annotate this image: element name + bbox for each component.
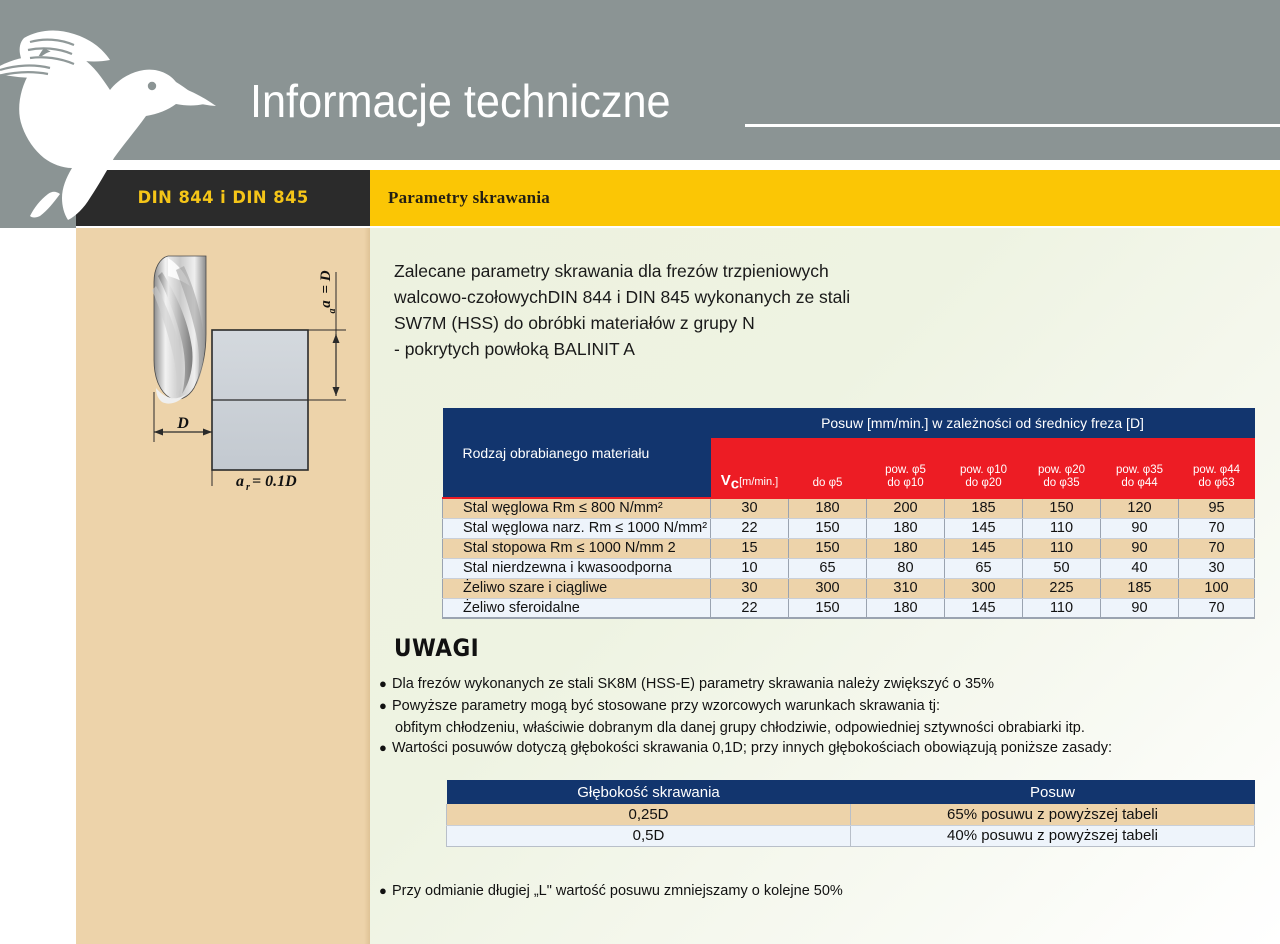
cell-feed: 40% posuwu z powyższej tabeli	[851, 825, 1255, 846]
cell-d20-d35: 110	[1023, 598, 1101, 618]
table-row: Stal węglowa narz. Rm ≤ 1000 N/mm² 22 15…	[443, 518, 1255, 538]
cell-d10-d20: 145	[945, 598, 1023, 618]
col-header-d20-d35-l1: pow. φ20	[1023, 464, 1101, 477]
cell-depth: 0,25D	[447, 804, 851, 825]
col-header-d44-d63-l1: pow. φ44	[1179, 464, 1255, 477]
cell-d10-d20: 185	[945, 498, 1023, 518]
cell-d5: 150	[789, 538, 867, 558]
cell-material: Stal węglowa Rm ≤ 800 N/mm²	[443, 498, 711, 518]
col-header-d5-l2: do φ5	[789, 477, 867, 490]
note-continuation: obfitym chłodzeniu, właściwie dobranym d…	[376, 718, 1266, 738]
cell-d5: 150	[789, 518, 867, 538]
cell-d44-d63: 95	[1179, 498, 1255, 518]
cutting-parameters-table: Rodzaj obrabianego materiału Posuw [mm/m…	[442, 408, 1255, 619]
section-banner-label: Parametry skrawania	[388, 188, 550, 208]
cell-d35-d44: 90	[1101, 518, 1179, 538]
cell-vc: 22	[711, 518, 789, 538]
standard-banner-label: DIN 844 i DIN 845	[137, 188, 308, 208]
feed-span-header: Posuw [mm/min.] w zależności od średnicy…	[711, 408, 1255, 438]
table-row: 0,5D 40% posuwu z powyższej tabeli	[447, 825, 1255, 846]
cell-d5-d10: 180	[867, 518, 945, 538]
col-header-d10-d20-l2: do φ20	[945, 477, 1023, 490]
material-column-header: Rodzaj obrabianego materiału	[443, 408, 711, 498]
cell-material: Żeliwo sferoidalne	[443, 598, 711, 618]
col-header-d5-d10-l1: pow. φ5	[867, 464, 945, 477]
col-header-d5: do φ5	[789, 438, 867, 498]
cell-d10-d20: 300	[945, 578, 1023, 598]
cell-material: Stal nierdzewna i kwasoodporna	[443, 558, 711, 578]
table-row: Stal węglowa Rm ≤ 800 N/mm² 30 180 200 1…	[443, 498, 1255, 518]
vc-symbol: V	[721, 472, 731, 489]
col-header-d35-d44-l2: do φ44	[1101, 477, 1179, 490]
cell-d20-d35: 50	[1023, 558, 1101, 578]
intro-line-4: - pokrytych powłoką BALINIT A	[394, 336, 994, 362]
table-header-row-top: Rodzaj obrabianego materiału Posuw [mm/m…	[443, 408, 1255, 438]
cell-d5-d10: 180	[867, 598, 945, 618]
standard-banner: DIN 844 i DIN 845	[76, 170, 370, 226]
cell-d35-d44: 120	[1101, 498, 1179, 518]
cell-d44-d63: 70	[1179, 538, 1255, 558]
cell-d44-d63: 100	[1179, 578, 1255, 598]
page-title: Informacje techniczne	[250, 74, 671, 128]
svg-text:= D: = D	[318, 270, 334, 293]
list-item: ● Dla frezów wykonanych ze stali SK8M (H…	[376, 674, 1266, 694]
cell-d44-d63: 70	[1179, 598, 1255, 618]
bullet-icon: ●	[376, 696, 392, 716]
cell-vc: 15	[711, 538, 789, 558]
notes-list: ● Dla frezów wykonanych ze stali SK8M (H…	[376, 674, 1266, 760]
cell-d20-d35: 150	[1023, 498, 1101, 518]
col-header-d35-d44: pow. φ35 do φ44	[1101, 438, 1179, 498]
end-mill-technical-drawing: a a = D D a r = 0.1D	[132, 242, 372, 492]
cell-d5: 150	[789, 598, 867, 618]
table-row: Żeliwo szare i ciągliwe 30 300 310 300 2…	[443, 578, 1255, 598]
cell-material: Stal węglowa narz. Rm ≤ 1000 N/mm²	[443, 518, 711, 538]
bullet-icon: ●	[376, 881, 392, 901]
intro-line-3: SW7M (HSS) do obróbki materiałów z grupy…	[394, 310, 994, 336]
cell-d5-d10: 80	[867, 558, 945, 578]
cell-d20-d35: 110	[1023, 518, 1101, 538]
svg-text:r: r	[246, 482, 250, 492]
bullet-icon: ●	[376, 674, 392, 694]
cell-feed: 65% posuwu z powyższej tabeli	[851, 804, 1255, 825]
table-row: 0,25D 65% posuwu z powyższej tabeli	[447, 804, 1255, 825]
col-header-d5-d10-l2: do φ10	[867, 477, 945, 490]
col-header-d10-d20-l1: pow. φ10	[945, 464, 1023, 477]
col-header-d10-d20: pow. φ10 do φ20	[945, 438, 1023, 498]
cell-material: Żeliwo szare i ciągliwe	[443, 578, 711, 598]
vc-subscript: c	[731, 475, 739, 492]
logo-panel	[0, 0, 76, 228]
cell-d35-d44: 40	[1101, 558, 1179, 578]
feed-column-header: Posuw	[851, 780, 1255, 804]
cell-d10-d20: 145	[945, 538, 1023, 558]
note-text: Powyższe parametry mogą być stosowane pr…	[392, 696, 1266, 716]
cell-d35-d44: 185	[1101, 578, 1179, 598]
svg-text:a: a	[236, 473, 244, 490]
list-item: ● Wartości posuwów dotyczą głębokości sk…	[376, 738, 1266, 758]
svg-text:a: a	[318, 300, 334, 308]
cell-vc: 10	[711, 558, 789, 578]
notes-heading: UWAGI	[394, 634, 479, 662]
cell-d35-d44: 90	[1101, 538, 1179, 558]
col-header-d35-d44-l1: pow. φ35	[1101, 464, 1179, 477]
col-header-vc: Vc[m/min.]	[711, 438, 789, 498]
cell-vc: 22	[711, 598, 789, 618]
intro-line-1: Zalecane parametry skrawania dla frezów …	[394, 258, 994, 284]
table-row: Żeliwo sferoidalne 22 150 180 145 110 90…	[443, 598, 1255, 618]
cell-d20-d35: 110	[1023, 538, 1101, 558]
col-header-d20-d35: pow. φ20 do φ35	[1023, 438, 1101, 498]
cell-vc: 30	[711, 578, 789, 598]
depth-table-header-row: Głębokość skrawania Posuw	[447, 780, 1255, 804]
final-note: ● Przy odmianie długiej „L" wartość posu…	[376, 881, 1266, 901]
cell-d35-d44: 90	[1101, 598, 1179, 618]
cell-d5-d10: 310	[867, 578, 945, 598]
col-header-d44-d63: pow. φ44 do φ63	[1179, 438, 1255, 498]
final-note-text: Przy odmianie długiej „L" wartość posuwu…	[392, 881, 1266, 901]
bullet-icon: ●	[376, 738, 392, 758]
svg-text:D: D	[176, 415, 189, 432]
col-header-d44-d63-l2: do φ63	[1179, 477, 1255, 490]
col-header-d5-d10: pow. φ5 do φ10	[867, 438, 945, 498]
vc-unit: [m/min.]	[739, 476, 778, 488]
note-text: Dla frezów wykonanych ze stali SK8M (HSS…	[392, 674, 1266, 694]
list-item: ● Powyższe parametry mogą być stosowane …	[376, 696, 1266, 716]
cell-d5: 180	[789, 498, 867, 518]
cell-d10-d20: 145	[945, 518, 1023, 538]
intro-line-2: walcowo-czołowychDIN 844 i DIN 845 wykon…	[394, 284, 994, 310]
note-text: Wartości posuwów dotyczą głębokości skra…	[392, 738, 1266, 758]
table-row: Stal nierdzewna i kwasoodporna 10 65 80 …	[443, 558, 1255, 578]
cell-d5-d10: 200	[867, 498, 945, 518]
depth-column-header: Głębokość skrawania	[447, 780, 851, 804]
col-header-d20-d35-l2: do φ35	[1023, 477, 1101, 490]
intro-paragraph: Zalecane parametry skrawania dla frezów …	[394, 258, 994, 362]
cell-d5: 65	[789, 558, 867, 578]
cell-d44-d63: 30	[1179, 558, 1255, 578]
cell-d10-d20: 65	[945, 558, 1023, 578]
page-root: Informacje techniczne	[0, 0, 1280, 944]
cell-d20-d35: 225	[1023, 578, 1101, 598]
section-banner: Parametry skrawania	[370, 170, 1280, 226]
title-underline-rule	[745, 124, 1280, 127]
cell-depth: 0,5D	[447, 825, 851, 846]
cell-vc: 30	[711, 498, 789, 518]
depth-of-cut-table: Głębokość skrawania Posuw 0,25D 65% posu…	[446, 780, 1255, 847]
cell-material: Stal stopowa Rm ≤ 1000 N/mm 2	[443, 538, 711, 558]
table-row: Stal stopowa Rm ≤ 1000 N/mm 2 15 150 180…	[443, 538, 1255, 558]
svg-text:= 0.1D: = 0.1D	[252, 473, 297, 490]
cell-d5: 300	[789, 578, 867, 598]
cell-d44-d63: 70	[1179, 518, 1255, 538]
svg-text:a: a	[327, 309, 338, 314]
cell-d5-d10: 180	[867, 538, 945, 558]
